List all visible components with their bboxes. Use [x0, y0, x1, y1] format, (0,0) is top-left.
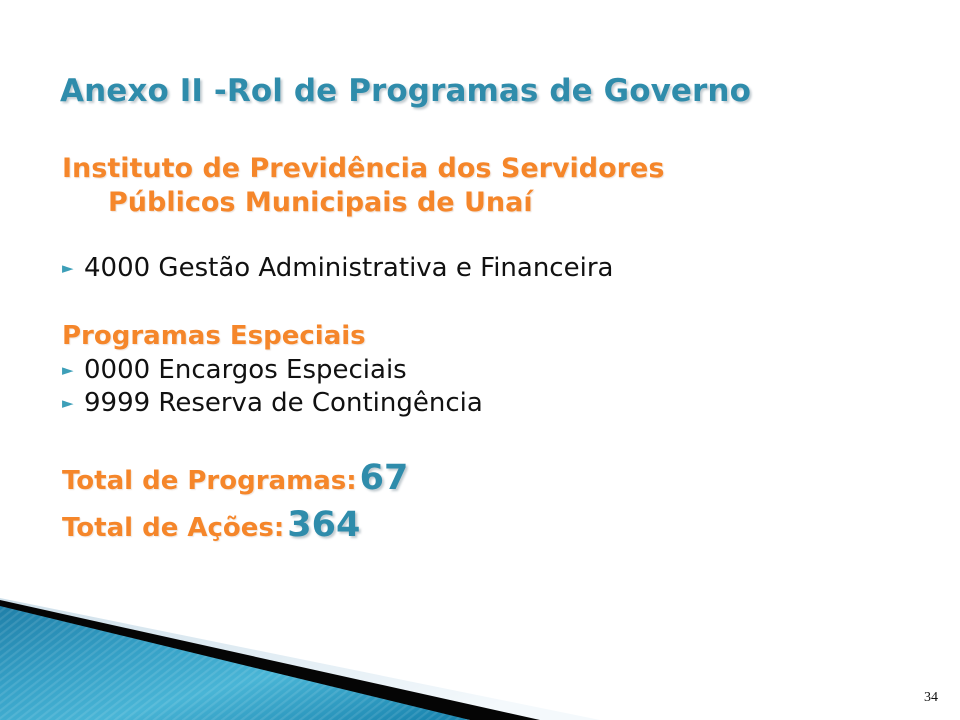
- deco-teal-triangle: [0, 606, 470, 720]
- subtitle-block: Instituto de Previdência dos Servidores …: [62, 152, 914, 220]
- slide-canvas: Anexo II -Rol de Programas de Governo In…: [0, 0, 960, 720]
- slide-body: Instituto de Previdência dos Servidores …: [62, 152, 914, 549]
- total-programas-row: Total de Programas:67: [62, 455, 914, 502]
- deco-teal-texture: [0, 606, 470, 720]
- total-acoes-value: 364: [287, 505, 360, 545]
- subtitle-line-2: Públicos Municipais de Unaí: [86, 186, 914, 220]
- list-item: ► 0000 Encargos Especiais: [62, 354, 914, 388]
- list-item-label: 0000 Encargos Especiais: [84, 354, 914, 388]
- page-title: Anexo II -Rol de Programas de Governo: [60, 73, 920, 109]
- spacer: [62, 226, 914, 252]
- total-programas-label: Total de Programas:: [62, 466, 357, 496]
- total-acoes-row: Total de Ações:364: [62, 502, 914, 549]
- triangle-right-icon: ►: [62, 261, 84, 276]
- section-heading: Programas Especiais: [62, 320, 914, 354]
- list-item-label: 4000 Gestão Administrativa e Financeira: [84, 252, 914, 286]
- triangle-right-icon: ►: [62, 396, 84, 411]
- deco-light-wedge: [0, 598, 600, 720]
- deco-black-stripe: [0, 600, 540, 720]
- triangle-right-icon: ►: [62, 363, 84, 378]
- spacer: [62, 286, 914, 320]
- total-acoes-label: Total de Ações:: [62, 513, 284, 543]
- list-item: ► 4000 Gestão Administrativa e Financeir…: [62, 252, 914, 286]
- total-programas-value: 67: [360, 458, 409, 498]
- decorative-diagonal-band: [0, 580, 960, 720]
- spacer: [62, 421, 914, 455]
- subtitle-line-1: Instituto de Previdência dos Servidores: [62, 153, 664, 184]
- list-item-label: 9999 Reserva de Contingência: [84, 387, 914, 421]
- page-number: 34: [924, 690, 938, 706]
- list-item: ► 9999 Reserva de Contingência: [62, 387, 914, 421]
